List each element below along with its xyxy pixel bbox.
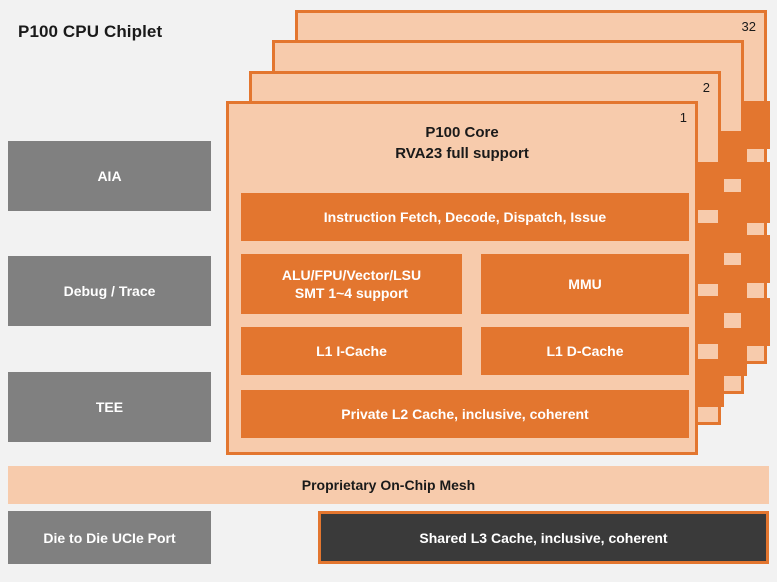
core-card-32-number: 32 (742, 19, 756, 34)
unit-l1-d-cache-label: L1 D-Cache (546, 342, 623, 360)
core-heading: P100 Core RVA23 full support (229, 122, 695, 164)
unit-alu-fpu-vector-lsu-label: ALU/FPU/Vector/LSUSMT 1~4 support (282, 266, 421, 302)
unit-private-l2-cache-label: Private L2 Cache, inclusive, coherent (341, 405, 588, 423)
on-chip-mesh-bar[interactable]: Proprietary On-Chip Mesh (8, 466, 769, 504)
unit-mmu-label: MMU (568, 275, 601, 293)
core-heading-line1: P100 Core (229, 122, 695, 143)
shared-l3-cache-label: Shared L3 Cache, inclusive, coherent (419, 530, 667, 546)
page-title: P100 CPU Chiplet (18, 22, 162, 42)
core-card-2-number: 2 (703, 80, 710, 95)
unit-alu-fpu-vector-lsu[interactable]: ALU/FPU/Vector/LSUSMT 1~4 support (241, 254, 462, 314)
unit-l1-i-cache-label: L1 I-Cache (316, 342, 387, 360)
unit-private-l2-cache[interactable]: Private L2 Cache, inclusive, coherent (241, 390, 689, 438)
die-to-die-ucie-port[interactable]: Die to Die UCIe Port (8, 511, 211, 564)
side-block-tee[interactable]: TEE (8, 372, 211, 442)
core-heading-line2: RVA23 full support (229, 143, 695, 164)
core-card-1[interactable]: 1 P100 Core RVA23 full support Instructi… (226, 101, 698, 455)
side-block-debug-trace-label: Debug / Trace (64, 283, 156, 299)
diagram-canvas: P100 CPU Chiplet 32 2 1 P100 Core RVA23 … (0, 0, 777, 582)
unit-mmu[interactable]: MMU (481, 254, 689, 314)
side-block-tee-label: TEE (96, 399, 123, 415)
unit-l1-d-cache[interactable]: L1 D-Cache (481, 327, 689, 375)
side-block-aia[interactable]: AIA (8, 141, 211, 211)
side-block-aia-label: AIA (97, 168, 121, 184)
shared-l3-cache[interactable]: Shared L3 Cache, inclusive, coherent (318, 511, 769, 564)
unit-instruction-fetch-label: Instruction Fetch, Decode, Dispatch, Iss… (324, 208, 606, 226)
die-to-die-ucie-port-label: Die to Die UCIe Port (43, 530, 175, 546)
on-chip-mesh-label: Proprietary On-Chip Mesh (302, 477, 475, 493)
side-block-debug-trace[interactable]: Debug / Trace (8, 256, 211, 326)
unit-l1-i-cache[interactable]: L1 I-Cache (241, 327, 462, 375)
unit-instruction-fetch[interactable]: Instruction Fetch, Decode, Dispatch, Iss… (241, 193, 689, 241)
